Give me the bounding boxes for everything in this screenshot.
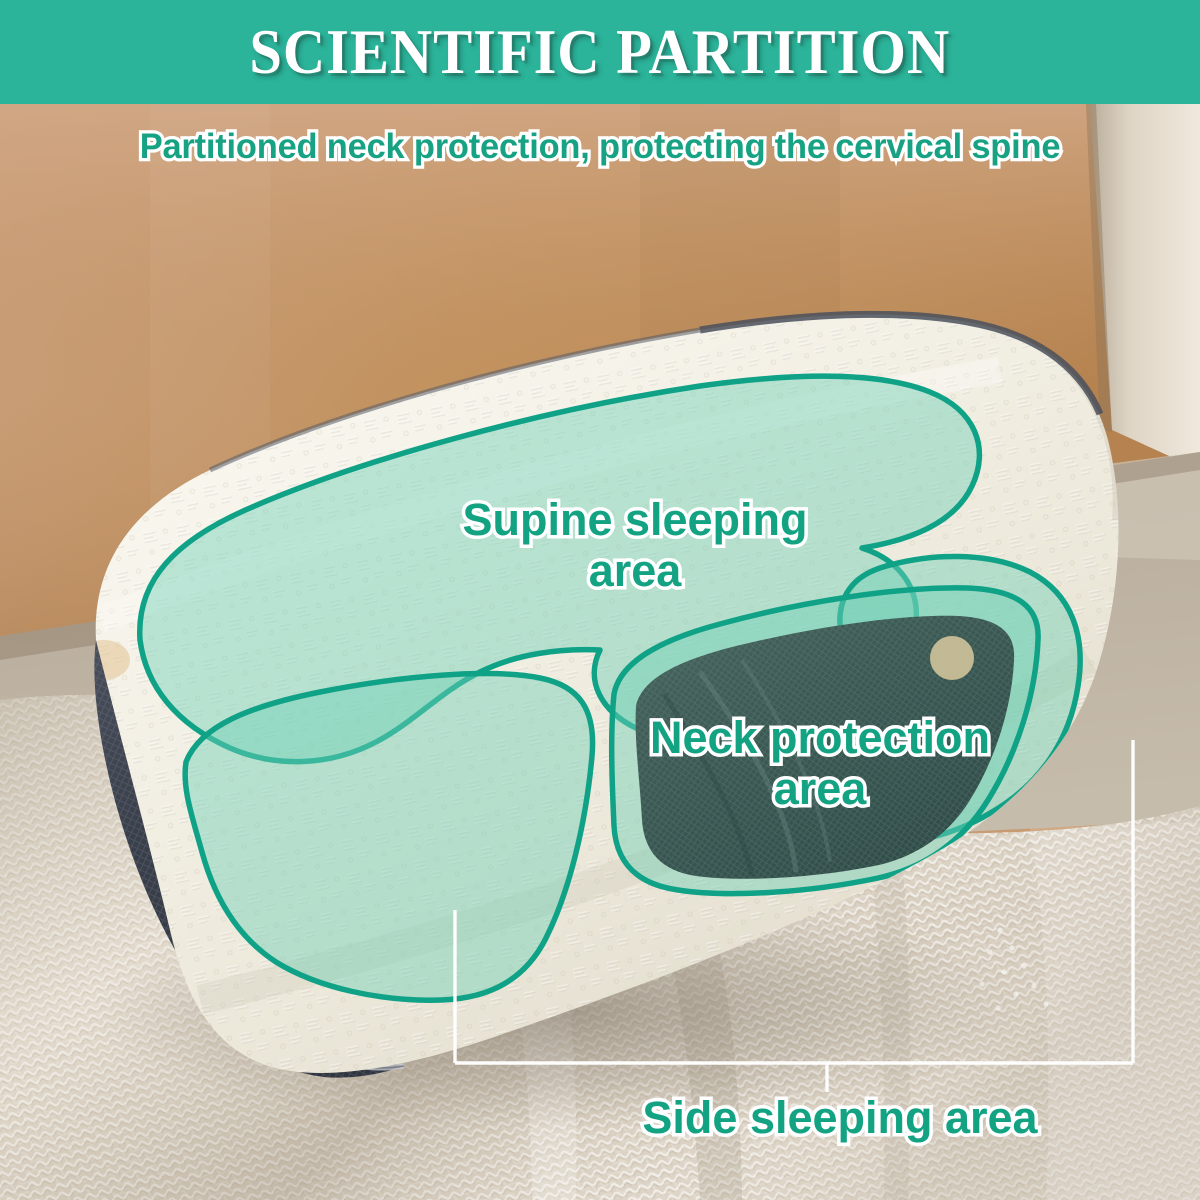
fabric-mark: [930, 636, 974, 680]
product-photo-scene: [0, 0, 1200, 1200]
callout-side-sleeping-area: Side sleeping area: [560, 1092, 1120, 1143]
callout-neck-protection-area: Neck protection area: [575, 712, 1065, 815]
callout-supine-sleeping-area: Supine sleeping area: [370, 494, 900, 597]
header-band: SCIENTIFIC PARTITION: [0, 0, 1200, 104]
page-title: SCIENTIFIC PARTITION: [250, 16, 951, 89]
subtitle-text: Partitioned neck protection, protecting …: [18, 126, 1182, 167]
